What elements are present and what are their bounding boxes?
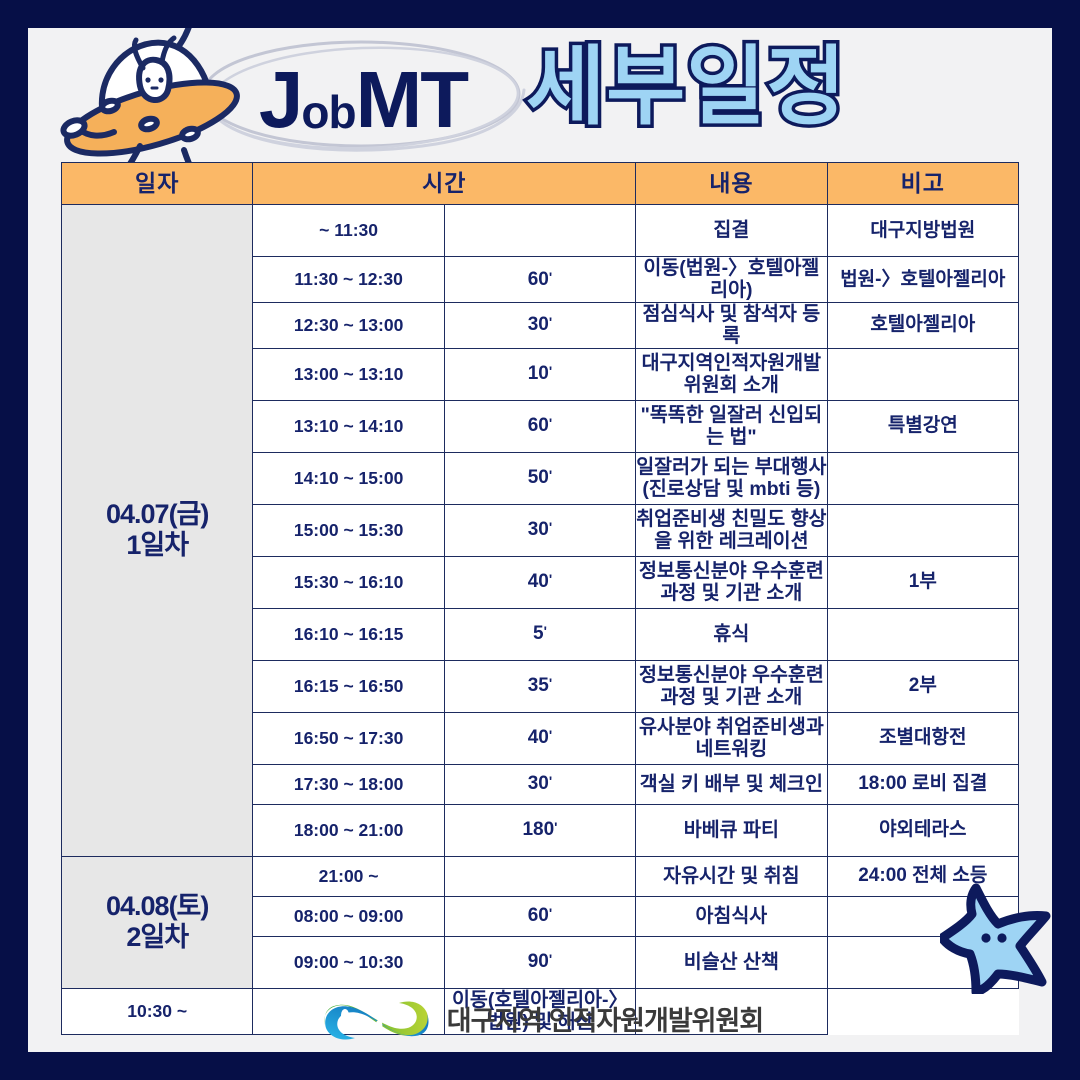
poster-root: JobMT 세부일정 (0, 0, 1080, 1080)
footer-organization-name: 대구지역 인적자원개발위원회 (447, 999, 763, 1038)
cell-duration-value: 10 (528, 363, 549, 384)
cell-duration: 40' (444, 556, 635, 608)
cell-time: 12:30 ~ 13:00 (253, 302, 444, 348)
cell-duration: 30' (444, 504, 635, 556)
cell-remark: 24:00 전체 소등 (827, 856, 1018, 896)
title-jobmt: JobMT (213, 52, 513, 148)
cell-duration-value: 40 (528, 571, 549, 592)
cell-time: 13:10 ~ 14:10 (253, 400, 444, 452)
cell-content: 정보통신분야 우수훈련과정 및 기관 소개 (636, 660, 827, 712)
mascot-eye-right (158, 77, 163, 82)
footer: 대구지역 인적자원개발위원회 (28, 992, 1052, 1044)
schedule-table-head: 일자 시간 내용 비고 (62, 163, 1019, 205)
cell-duration: 60' (444, 257, 635, 303)
cell-remark (827, 452, 1018, 504)
cell-duration: 5' (444, 608, 635, 660)
cell-content: 이동(법원-〉호텔아젤리아) (636, 257, 827, 303)
cell-duration-value: 90 (528, 951, 549, 972)
cell-content: 객실 키 배부 및 체크인 (636, 764, 827, 804)
date-label-line2: 2일차 (62, 922, 252, 953)
cell-time: 08:00 ~ 09:00 (253, 896, 444, 936)
date-label-line1: 04.07(금) (62, 499, 252, 530)
cell-time: 15:00 ~ 15:30 (253, 504, 444, 556)
duration-minute-mark: ' (549, 467, 552, 483)
infinity-ribbon-logo-icon (317, 995, 435, 1041)
date-label-line2: 1일차 (62, 530, 252, 561)
cell-duration-value: 30 (528, 773, 549, 794)
cell-time: 11:30 ~ 12:30 (253, 257, 444, 303)
header-cell-content: 내용 (636, 163, 827, 205)
cell-content: 정보통신분야 우수훈련과정 및 기관 소개 (636, 556, 827, 608)
table-row: 04.07(금)1일차~ 11:30집결대구지방법원 (62, 205, 1019, 257)
duration-minute-mark: ' (549, 519, 552, 535)
cell-time: 13:00 ~ 13:10 (253, 348, 444, 400)
table-row: 04.08(토)2일차21:00 ~자유시간 및 취침24:00 전체 소등 (62, 856, 1019, 896)
cell-duration-value: 60 (528, 269, 549, 290)
cell-duration: 30' (444, 764, 635, 804)
cell-duration-value: 180 (522, 819, 554, 840)
duration-minute-mark: ' (549, 727, 552, 743)
title-jobmt-mt: MT (356, 60, 468, 140)
cell-remark (827, 504, 1018, 556)
cell-duration-value: 35 (528, 675, 549, 696)
poster-header: JobMT 세부일정 (28, 28, 1052, 168)
cell-date-group: 04.08(토)2일차 (62, 856, 253, 988)
cell-duration (444, 205, 635, 257)
cell-time: ~ 11:30 (253, 205, 444, 257)
poster-inner-panel: JobMT 세부일정 (28, 28, 1052, 1052)
cell-time: 16:50 ~ 17:30 (253, 712, 444, 764)
table-header-row: 일자 시간 내용 비고 (62, 163, 1019, 205)
title-jobmt-j: J (259, 60, 302, 140)
cell-remark (827, 936, 1018, 988)
duration-minute-mark: ' (549, 363, 552, 379)
cell-time: 18:00 ~ 21:00 (253, 804, 444, 856)
cell-duration (444, 856, 635, 896)
header-cell-time: 시간 (253, 163, 636, 205)
cell-remark: 18:00 로비 집결 (827, 764, 1018, 804)
header-cell-date: 일자 (62, 163, 253, 205)
cell-duration-value: 50 (528, 467, 549, 488)
cell-remark: 법원-〉호텔아젤리아 (827, 257, 1018, 303)
title-korean: 세부일정 (526, 44, 846, 130)
cell-remark: 2부 (827, 660, 1018, 712)
duration-minute-mark: ' (549, 905, 552, 921)
schedule-table: 일자 시간 내용 비고 04.07(금)1일차~ 11:30집결대구지방법원11… (61, 162, 1019, 1035)
duration-minute-mark: ' (549, 269, 552, 285)
cell-duration: 90' (444, 936, 635, 988)
cell-remark: 야외테라스 (827, 804, 1018, 856)
duration-minute-mark: ' (544, 623, 547, 639)
cell-duration: 60' (444, 400, 635, 452)
cell-content: 점심식사 및 참석자 등록 (636, 302, 827, 348)
cell-remark: 대구지방법원 (827, 205, 1018, 257)
cell-content: 유사분야 취업준비생과 네트워킹 (636, 712, 827, 764)
cell-content: 대구지역인적자원개발위원회 소개 (636, 348, 827, 400)
cell-content: "똑똑한 일잘러 신입되는 법" (636, 400, 827, 452)
cell-time: 21:00 ~ (253, 856, 444, 896)
cell-remark (827, 608, 1018, 660)
schedule-table-body: 04.07(금)1일차~ 11:30집결대구지방법원11:30 ~ 12:306… (62, 205, 1019, 1035)
cell-time: 16:10 ~ 16:15 (253, 608, 444, 660)
cell-duration: 10' (444, 348, 635, 400)
cell-duration-value: 30 (528, 519, 549, 540)
cell-date-group: 04.07(금)1일차 (62, 205, 253, 857)
cell-time: 17:30 ~ 18:00 (253, 764, 444, 804)
cell-duration-value: 30 (528, 314, 549, 335)
cell-time: 14:10 ~ 15:00 (253, 452, 444, 504)
cell-content: 비슬산 산책 (636, 936, 827, 988)
header-cell-remark: 비고 (827, 163, 1018, 205)
cell-remark (827, 348, 1018, 400)
cell-time: 09:00 ~ 10:30 (253, 936, 444, 988)
cell-content: 집결 (636, 205, 827, 257)
cell-content: 휴식 (636, 608, 827, 660)
cell-duration: 30' (444, 302, 635, 348)
cell-duration-value: 60 (528, 415, 549, 436)
duration-minute-mark: ' (549, 314, 552, 330)
duration-minute-mark: ' (549, 571, 552, 587)
cell-duration: 50' (444, 452, 635, 504)
cell-content: 아침식사 (636, 896, 827, 936)
cell-remark (827, 896, 1018, 936)
duration-minute-mark: ' (549, 951, 552, 967)
date-label-line1: 04.08(토) (62, 891, 252, 922)
duration-minute-mark: ' (554, 819, 557, 835)
mascot-eye-left (145, 77, 150, 82)
cell-content: 일잘러가 되는 부대행사(진로상담 및 mbti 등) (636, 452, 827, 504)
duration-minute-mark: ' (549, 415, 552, 431)
cell-content: 자유시간 및 취침 (636, 856, 827, 896)
cell-time: 16:15 ~ 16:50 (253, 660, 444, 712)
cell-duration-value: 40 (528, 727, 549, 748)
cell-remark: 특별강연 (827, 400, 1018, 452)
cell-remark: 호텔아젤리아 (827, 302, 1018, 348)
cell-content: 취업준비생 친밀도 향상을 위한 레크레이션 (636, 504, 827, 556)
schedule-table-wrapper: 일자 시간 내용 비고 04.07(금)1일차~ 11:30집결대구지방법원11… (61, 162, 1019, 1035)
cell-content: 바베큐 파티 (636, 804, 827, 856)
cell-duration: 40' (444, 712, 635, 764)
cell-duration-value: 60 (528, 905, 549, 926)
duration-minute-mark: ' (549, 675, 552, 691)
cell-duration: 180' (444, 804, 635, 856)
cell-duration: 60' (444, 896, 635, 936)
cell-duration: 35' (444, 660, 635, 712)
cell-remark: 1부 (827, 556, 1018, 608)
title-jobmt-ob: ob (301, 89, 355, 135)
duration-minute-mark: ' (549, 773, 552, 789)
cell-duration-value: 5 (533, 623, 544, 644)
cell-time: 15:30 ~ 16:10 (253, 556, 444, 608)
cell-remark: 조별대항전 (827, 712, 1018, 764)
